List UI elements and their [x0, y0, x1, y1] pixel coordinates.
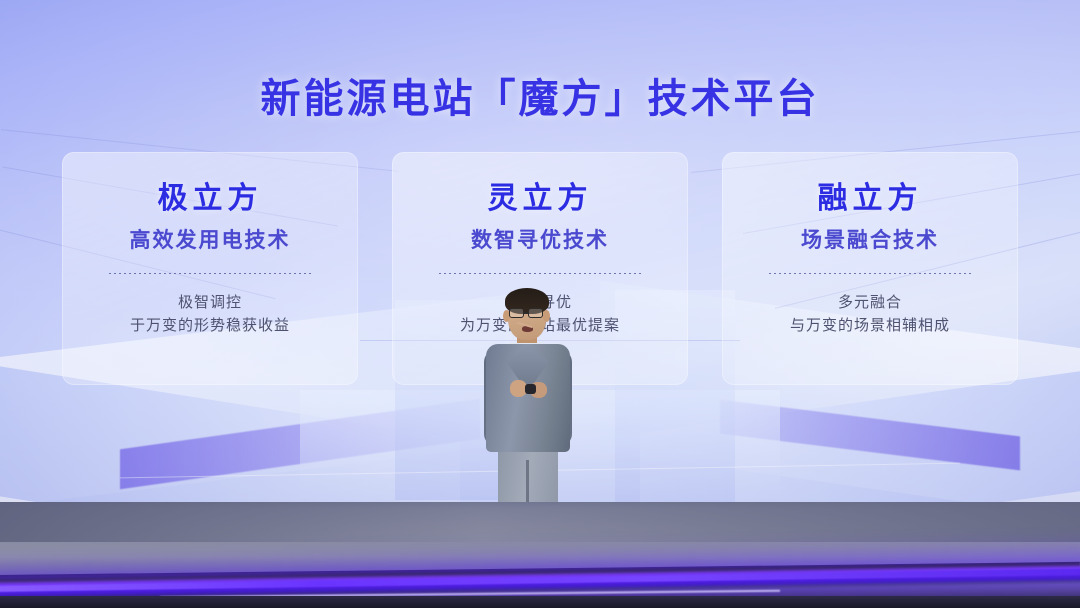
card-subtitle: 场景融合技术	[801, 230, 939, 251]
card-body: 多元融合 与万变的场景相辅相成	[790, 291, 950, 337]
card-body-line-1: 多元融合	[790, 291, 950, 314]
feature-card-ji-li-fang: 极立方 高效发用电技术 极智调控 于万变的形势稳获收益	[62, 152, 358, 385]
card-title: 灵立方	[488, 184, 593, 214]
card-body: 极智调控 于万变的形势稳获收益	[130, 291, 290, 337]
conference-stage-photo: 新能源电站「魔方」技术平台 极立方 高效发用电技术 极智调控 于万变的形势稳获收…	[0, 0, 1080, 608]
card-divider	[769, 273, 971, 274]
stage-floor-shadow	[0, 502, 1080, 542]
backdrop-light-bar-right	[720, 400, 1020, 471]
card-body-line-2: 于万变的形势稳获收益	[130, 314, 290, 337]
presenter-eyeglass-right	[528, 308, 543, 318]
card-body-line-2: 与万变的场景相辅相成	[790, 314, 950, 337]
card-title: 极立方	[158, 184, 263, 214]
presenter-clicker-remote	[525, 384, 536, 394]
card-divider	[439, 273, 641, 274]
presenter-eyeglass-left	[509, 308, 524, 318]
presenter-eyeglass-bridge	[523, 312, 529, 314]
presenter-ear-right	[543, 310, 550, 322]
stage-apron	[0, 596, 1080, 608]
card-divider	[109, 273, 311, 274]
slide-title: 新能源电站「魔方」技术平台	[0, 66, 1080, 124]
feature-card-rong-li-fang: 融立方 场景融合技术 多元融合 与万变的场景相辅相成	[722, 152, 1018, 385]
card-subtitle: 数智寻优技术	[471, 230, 609, 251]
backdrop-light-bar-left	[120, 399, 480, 490]
card-title: 融立方	[818, 184, 923, 214]
card-subtitle: 高效发用电技术	[130, 230, 291, 251]
card-body-line-1: 极智调控	[130, 291, 290, 314]
